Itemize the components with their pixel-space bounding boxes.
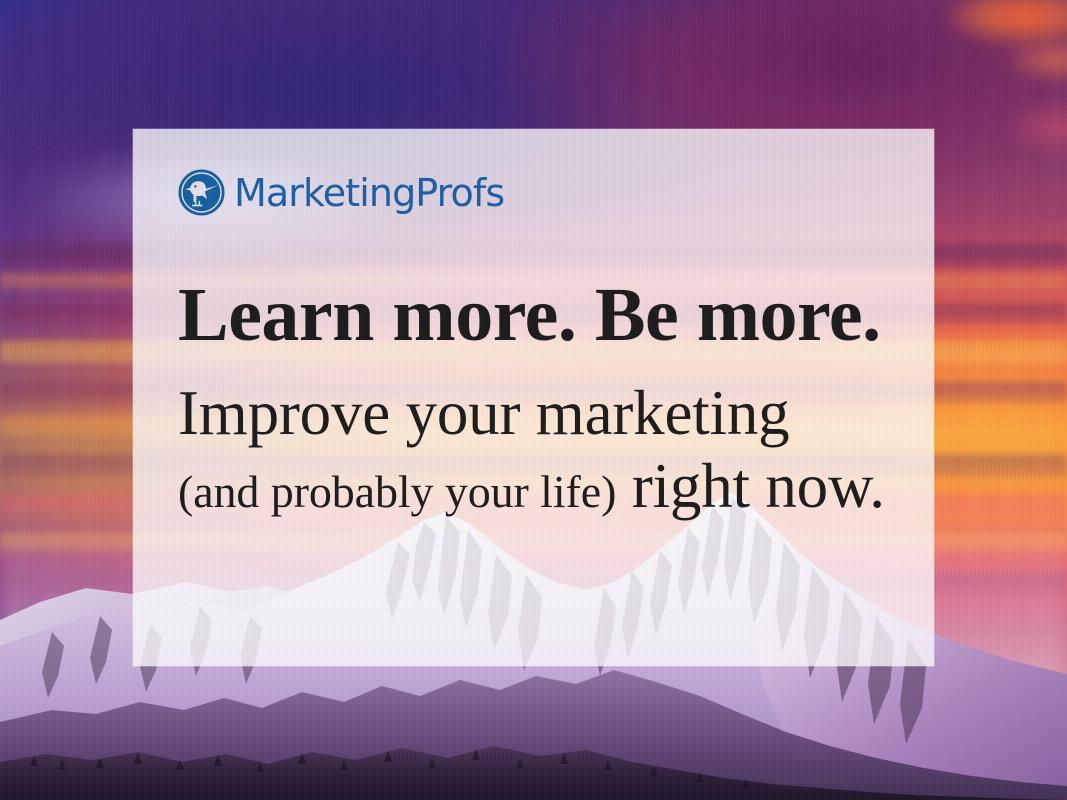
subheadline-parenthetical: (and probably your life) — [178, 466, 616, 517]
white-translucent-card: MarketingProfs Learn more. Be more. Impr… — [133, 129, 934, 666]
subheadline-tail: right now. — [616, 451, 884, 521]
subheadline: Improve your marketing (and probably you… — [178, 377, 900, 523]
marketingprofs-wordmark: MarketingProfs — [234, 174, 504, 212]
subheadline-line-1: Improve your marketing — [178, 378, 789, 448]
marketingprofs-bird-circle-icon — [178, 169, 225, 216]
subheadline-line-2: (and probably your life) right now. — [178, 451, 885, 521]
marketingprofs-logo[interactable]: MarketingProfs — [178, 169, 504, 216]
promo-copy: Learn more. Be more. Improve your market… — [178, 277, 900, 523]
headline: Learn more. Be more. — [178, 277, 900, 353]
cloud-ember-highlight-2 — [982, 32, 1067, 88]
cloud-ember-highlight-3 — [992, 96, 1067, 160]
promo-banner: MarketingProfs Learn more. Be more. Impr… — [0, 0, 1067, 800]
